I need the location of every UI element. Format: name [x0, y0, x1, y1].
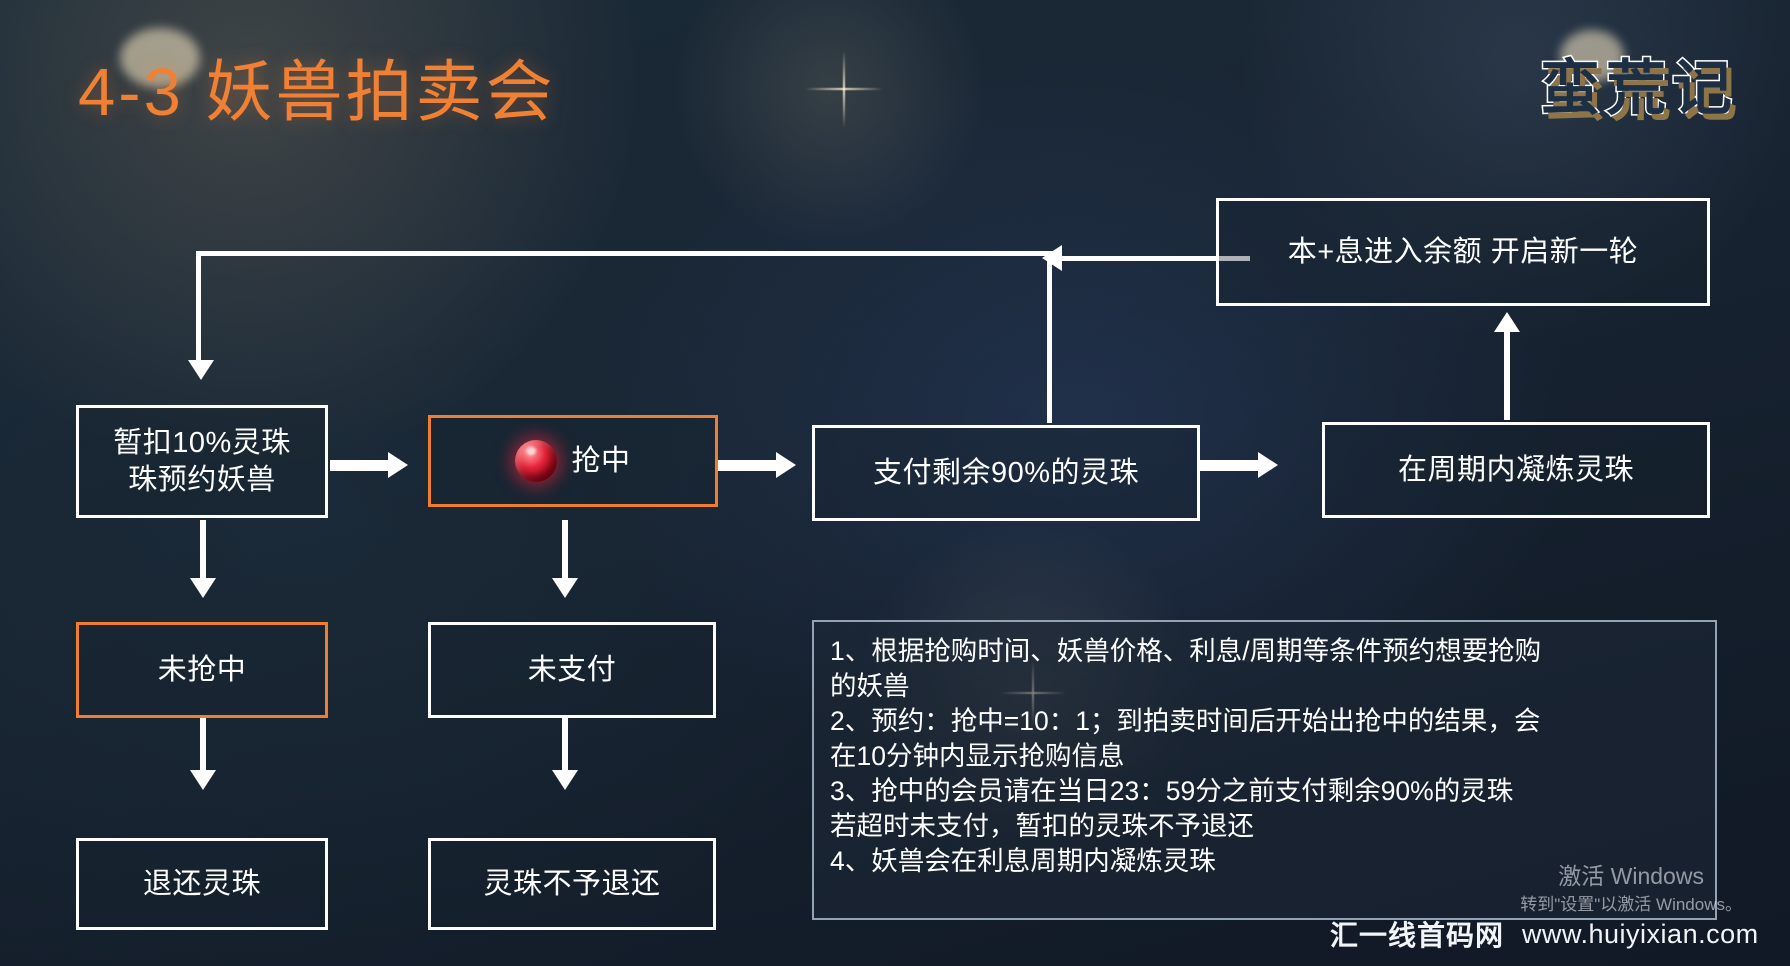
connector-line: [1200, 460, 1262, 471]
site-url: www.huiyixian.com: [1522, 919, 1759, 950]
connector-line: [562, 718, 568, 774]
flow-node-won[interactable]: 抢中: [428, 415, 718, 507]
site-name: 汇一线首码网: [1330, 914, 1504, 954]
arrow-right-icon: [776, 452, 796, 478]
slide-canvas: 4-3 妖兽拍卖会 蛮荒记 暂扣10%灵珠 珠预约妖兽 抢中 支付剩余90%的灵…: [0, 0, 1790, 966]
rules-line: 2、预约：抢中=10：1；到拍卖时间后开始出抢中的结果，会: [830, 704, 1699, 739]
connector-line: [200, 718, 206, 774]
arrow-down-icon: [552, 770, 578, 790]
connector-line: [1504, 330, 1510, 420]
arrow-right-icon: [1258, 452, 1278, 478]
arrow-up-icon: [1494, 312, 1520, 332]
connector-line: [330, 460, 392, 471]
brand-logo: 蛮荒记: [1540, 40, 1738, 127]
rules-line: 的妖兽: [830, 669, 1699, 704]
flow-node-won-label: 抢中: [571, 443, 630, 479]
page-title: 4-3 妖兽拍卖会: [78, 38, 555, 135]
site-watermark: 汇一线首码网 www.huiyixian.com: [1330, 914, 1759, 954]
connector-line: [196, 251, 201, 369]
flow-node-pay90[interactable]: 支付剩余90%的灵珠: [812, 425, 1200, 521]
flow-node-unpaid[interactable]: 未支付: [428, 622, 716, 718]
flow-node-not-won[interactable]: 未抢中: [76, 622, 328, 718]
arrow-down-icon: [190, 770, 216, 790]
connector-line: [1047, 251, 1052, 423]
activation-title: 激活 Windows: [1520, 860, 1742, 893]
flow-node-refine[interactable]: 在周期内凝炼灵珠: [1322, 422, 1710, 518]
sparkle-icon: [805, 50, 883, 128]
windows-activation-watermark: 激活 Windows 转到"设置"以激活 Windows。: [1520, 860, 1742, 918]
red-gem-icon: [515, 440, 557, 482]
rules-line: 在10分钟内显示抢购信息: [830, 739, 1699, 774]
arrow-down-icon: [188, 360, 214, 380]
flow-node-no-refund[interactable]: 灵珠不予退还: [428, 838, 716, 930]
arrow-down-icon: [190, 578, 216, 598]
flow-node-refund[interactable]: 退还灵珠: [76, 838, 328, 930]
rules-line: 若超时未支付，暂扣的灵珠不予退还: [830, 809, 1699, 844]
flow-node-reserve[interactable]: 暂扣10%灵珠 珠预约妖兽: [76, 405, 328, 518]
connector-line: [562, 520, 568, 582]
rules-line: 1、根据抢购时间、妖兽价格、利息/周期等条件预约想要抢购: [830, 634, 1699, 669]
connector-line: [718, 460, 780, 471]
arrow-right-icon: [388, 452, 408, 478]
flow-node-new-round[interactable]: 本+息进入余额 开启新一轮: [1216, 198, 1710, 306]
connector-line: [196, 251, 1060, 256]
arrow-left-icon: [1042, 245, 1062, 271]
rules-line: 3、抢中的会员请在当日23：59分之前支付剩余90%的灵珠: [830, 774, 1699, 809]
connector-line: [200, 520, 206, 582]
arrow-down-icon: [552, 578, 578, 598]
